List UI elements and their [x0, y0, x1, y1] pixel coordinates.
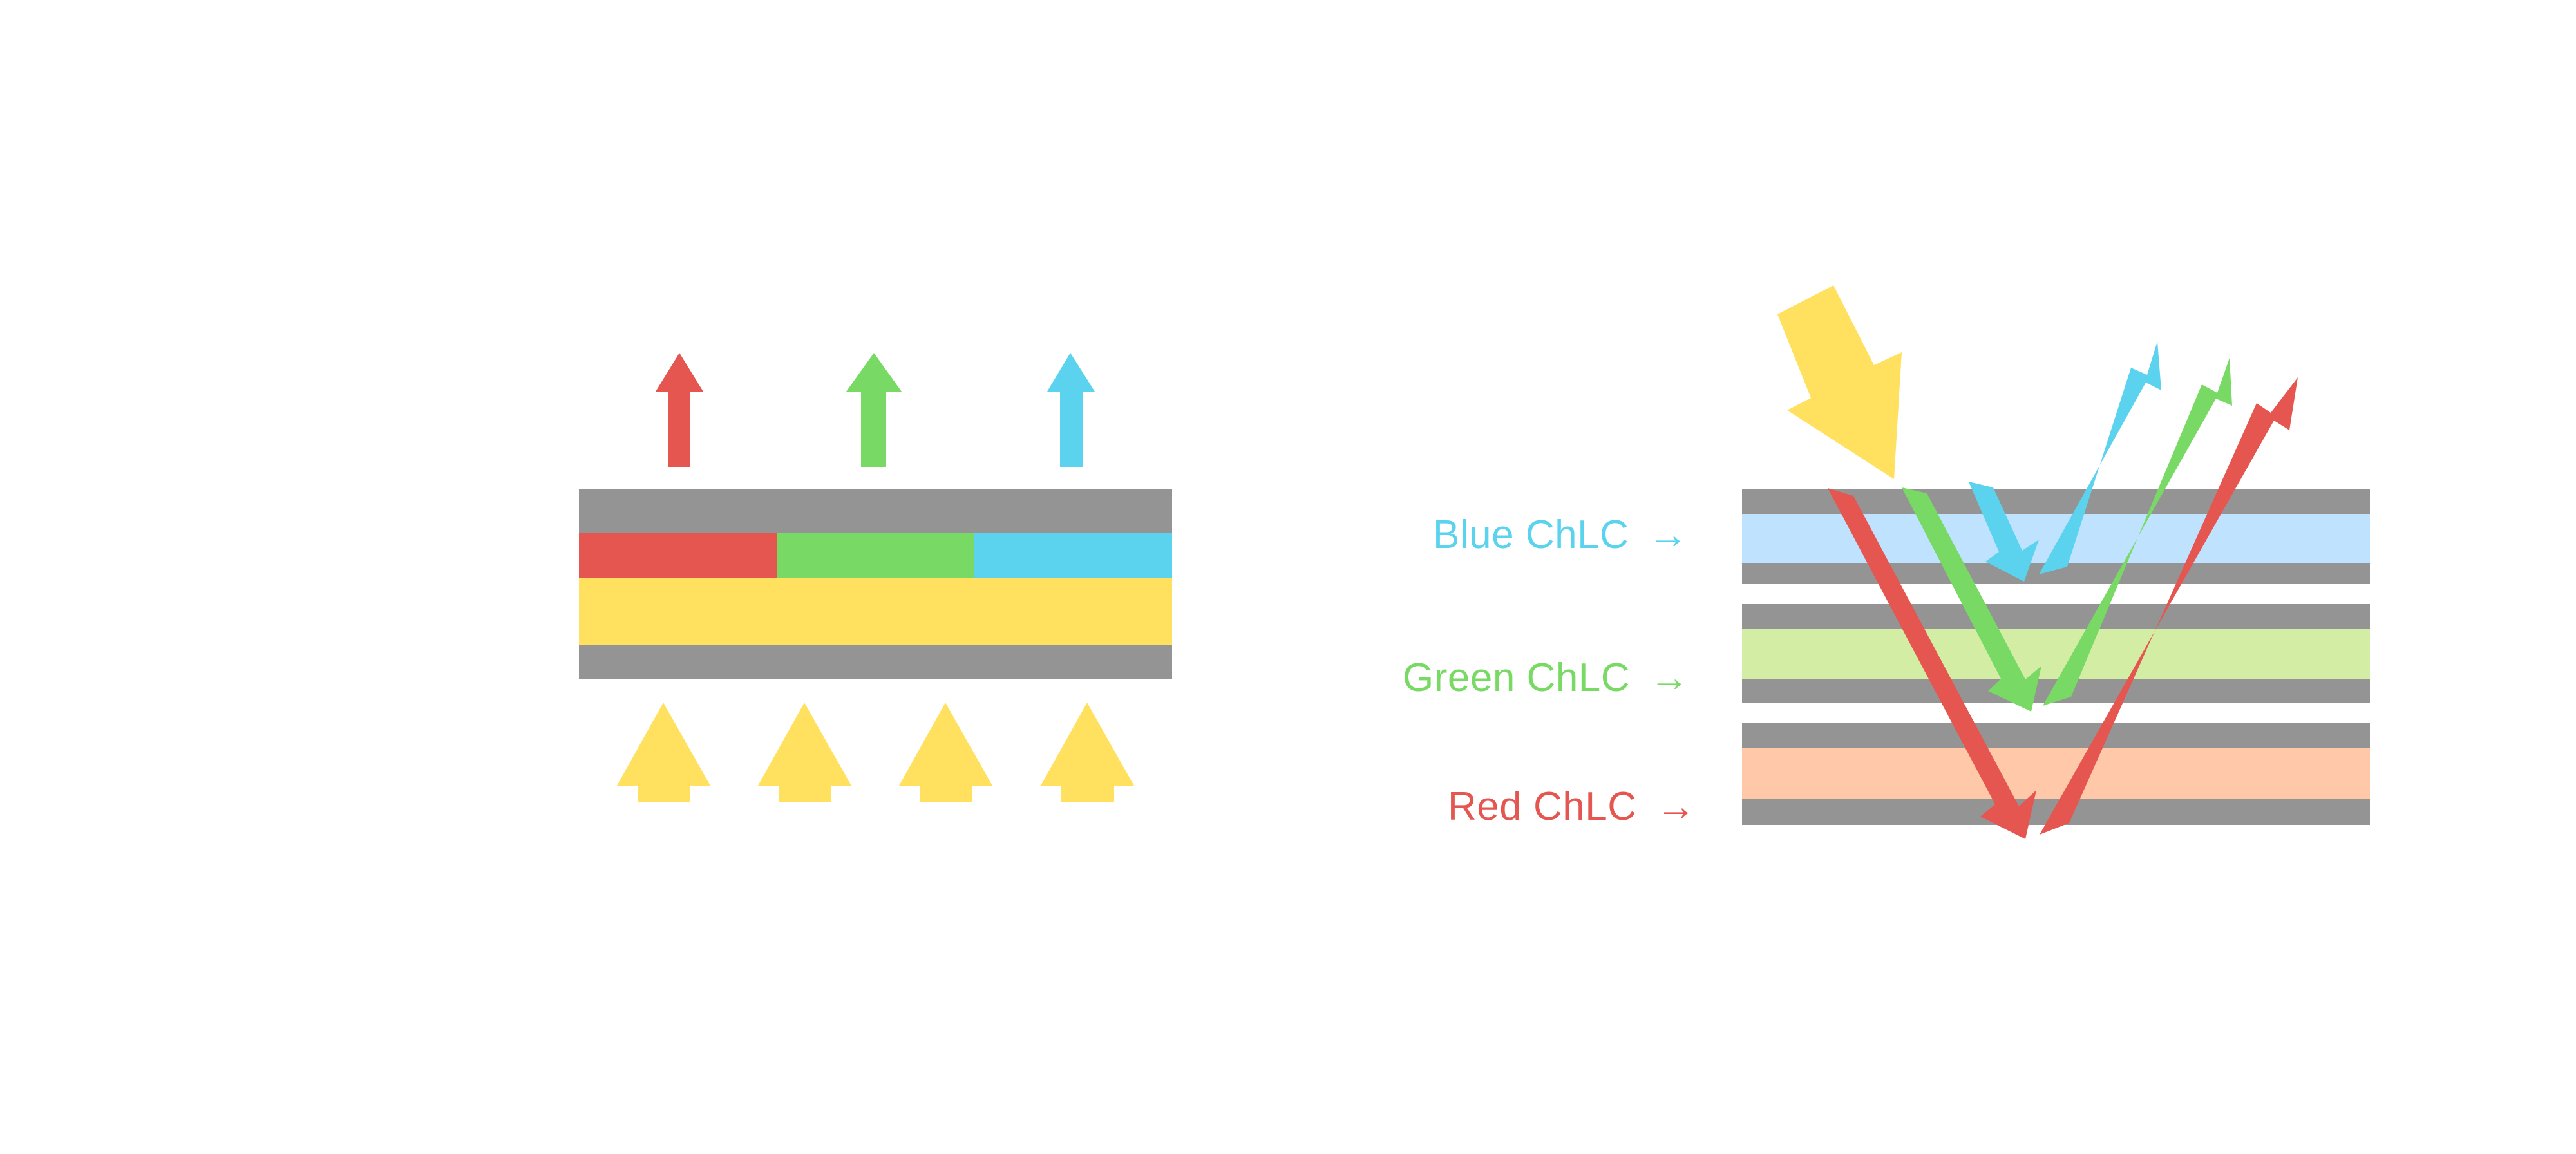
- label-red-chlc-arrow-icon: →: [1656, 784, 1696, 829]
- left-stack: [579, 489, 1172, 679]
- red-chlc-layer: [1742, 748, 2370, 799]
- label-red-chlc: Red ChLC→: [1448, 787, 1696, 827]
- backlight-arrow-3: [899, 703, 992, 802]
- backlight-arrow-2: [758, 703, 851, 802]
- ambient-light-arrow: [1777, 285, 1902, 479]
- backlight-arrow-4: [1041, 703, 1134, 802]
- green-emitted-arrow: [846, 353, 902, 467]
- left-emitted-arrows: [656, 353, 1095, 467]
- gap-1: [1742, 584, 2370, 604]
- left-blue-filter: [974, 533, 1172, 578]
- label-blue-chlc-text: Blue ChLC: [1433, 513, 1629, 557]
- left-backlight-layer: [579, 578, 1172, 645]
- green-top-electrode: [1742, 604, 2370, 629]
- label-blue-chlc-arrow-icon: →: [1648, 513, 1689, 557]
- label-green-chlc-arrow-icon: →: [1649, 656, 1690, 700]
- backlight-arrow-1: [617, 703, 710, 802]
- left-green-filter: [777, 533, 974, 578]
- left-backlight-arrows: [617, 703, 1134, 802]
- left-panel-group: [579, 353, 1172, 802]
- left-red-filter: [579, 533, 777, 578]
- diagram-svg: [0, 0, 2576, 1154]
- label-green-chlc: Green ChLC→: [1403, 658, 1690, 698]
- label-green-chlc-text: Green ChLC: [1403, 656, 1630, 700]
- gap-2: [1742, 703, 2370, 723]
- right-panel-group: [1742, 285, 2370, 839]
- figure-canvas: Blue ChLC→ Green ChLC→ Red ChLC→: [0, 0, 2576, 1154]
- cyan-emitted-arrow: [1047, 353, 1095, 467]
- label-red-chlc-text: Red ChLC: [1448, 784, 1636, 829]
- label-blue-chlc: Blue ChLC→: [1433, 515, 1689, 555]
- left-top-substrate: [579, 489, 1172, 533]
- left-bottom-substrate: [579, 645, 1172, 679]
- green-chlc-layer: [1742, 629, 2370, 679]
- right-stack: [1742, 489, 2370, 825]
- red-emitted-arrow: [656, 353, 703, 467]
- red-top-electrode: [1742, 723, 2370, 748]
